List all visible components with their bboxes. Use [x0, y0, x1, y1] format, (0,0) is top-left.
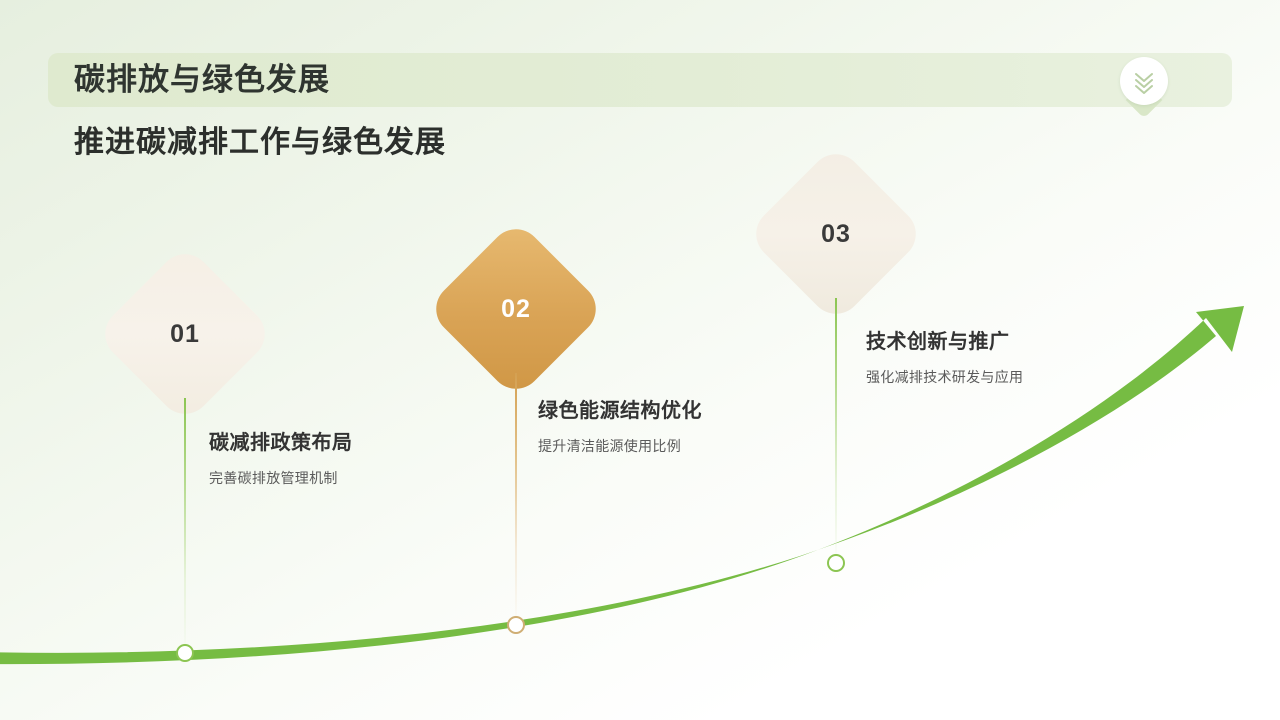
milestone-node-3[interactable]: 03: [772, 170, 900, 298]
node-title-2: 绿色能源结构优化: [538, 394, 702, 423]
node-stem-1: [184, 398, 186, 656]
page-subtitle: 推进碳减排工作与绿色发展: [74, 123, 446, 163]
double-chevron-down-icon[interactable]: [1120, 57, 1168, 105]
milestone-node-1[interactable]: 01: [121, 270, 249, 398]
slide-canvas: 碳排放与绿色发展 推进碳减排工作与绿色发展 01 碳减排政策布局 完善碳排放管理…: [0, 0, 1280, 720]
node-desc-3: 强化减排技术研发与应用: [866, 367, 1023, 387]
node-marker-1: [176, 644, 194, 662]
milestone-node-2[interactable]: 02: [452, 245, 580, 373]
page-title: 碳排放与绿色发展: [74, 56, 330, 104]
node-stem-2: [515, 373, 517, 625]
node-number-3: 03: [772, 170, 900, 298]
node-desc-1: 完善碳排放管理机制: [209, 468, 338, 488]
node-marker-2: [507, 616, 525, 634]
node-marker-3: [827, 554, 845, 572]
node-desc-2: 提升清洁能源使用比例: [538, 436, 681, 456]
node-title-1: 碳减排政策布局: [209, 426, 353, 455]
node-stem-3: [835, 298, 837, 564]
scroll-down-badge[interactable]: [1118, 55, 1170, 121]
node-number-2: 02: [452, 245, 580, 373]
node-title-3: 技术创新与推广: [866, 325, 1010, 354]
node-number-1: 01: [121, 270, 249, 398]
